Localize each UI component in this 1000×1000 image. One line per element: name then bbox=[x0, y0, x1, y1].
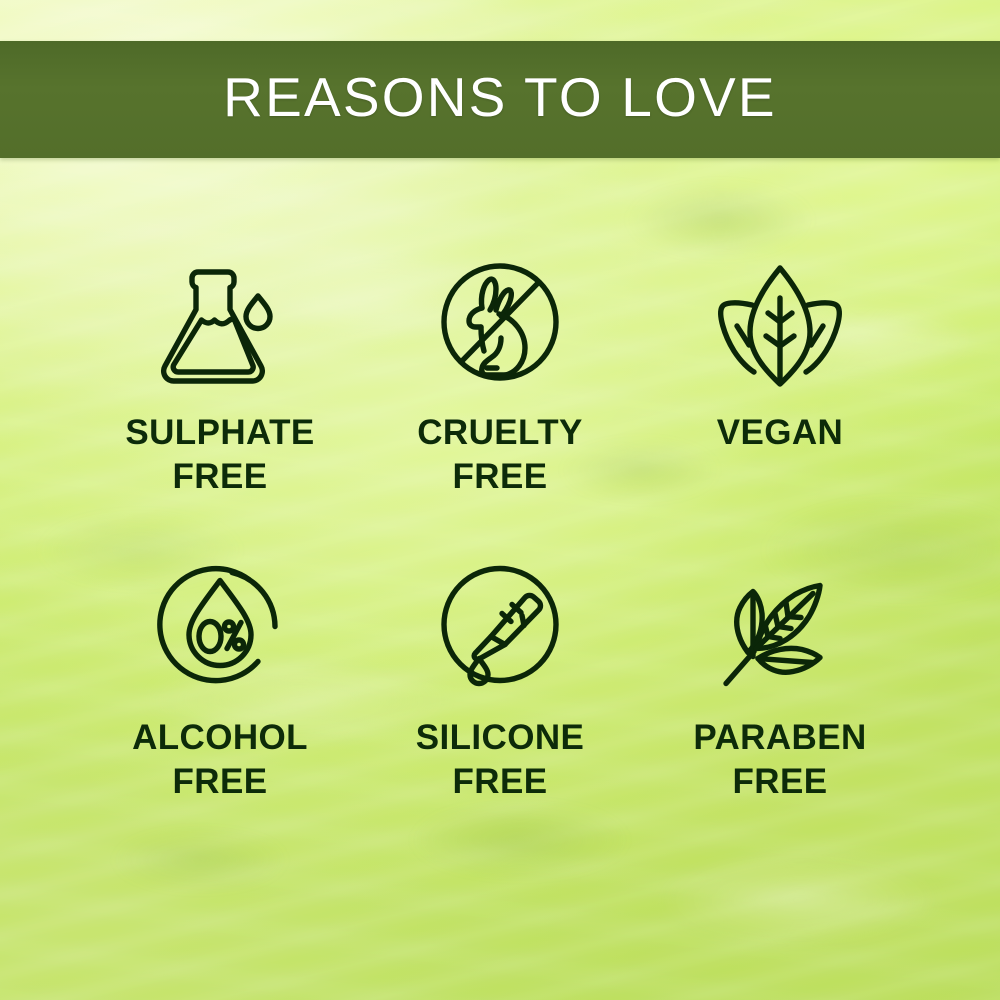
benefit-item-paraben-free: PARABEN FREE bbox=[640, 550, 920, 850]
benefit-item-alcohol-free: ALCOHOL FREE bbox=[80, 550, 360, 850]
three-leaves-icon bbox=[700, 250, 860, 395]
zero-percent-droplet-icon bbox=[140, 550, 300, 700]
no-rabbit-icon bbox=[420, 250, 580, 395]
benefit-item-silicone-free: SILICONE FREE bbox=[360, 550, 640, 850]
benefits-grid: SULPHATE FREE bbox=[80, 250, 920, 850]
leaf-branch-icon bbox=[700, 550, 860, 700]
flask-droplet-icon bbox=[140, 250, 300, 395]
benefit-label: SULPHATE FREE bbox=[125, 411, 314, 499]
poster: REASONS TO LOVE SULPHATE FREE bbox=[0, 0, 1000, 1000]
benefit-label: VEGAN bbox=[717, 411, 843, 455]
page-title: REASONS TO LOVE bbox=[223, 70, 777, 129]
header-banner: REASONS TO LOVE bbox=[0, 41, 1000, 158]
benefit-label: PARABEN FREE bbox=[693, 716, 866, 804]
benefit-item-sulphate-free: SULPHATE FREE bbox=[80, 250, 360, 550]
benefit-label: SILICONE FREE bbox=[416, 716, 585, 804]
dropper-pipette-icon bbox=[420, 550, 580, 700]
benefit-label: ALCOHOL FREE bbox=[132, 716, 308, 804]
benefit-item-cruelty-free: CRUELTY FREE bbox=[360, 250, 640, 550]
benefit-item-vegan: VEGAN bbox=[640, 250, 920, 550]
benefit-label: CRUELTY FREE bbox=[417, 411, 582, 499]
